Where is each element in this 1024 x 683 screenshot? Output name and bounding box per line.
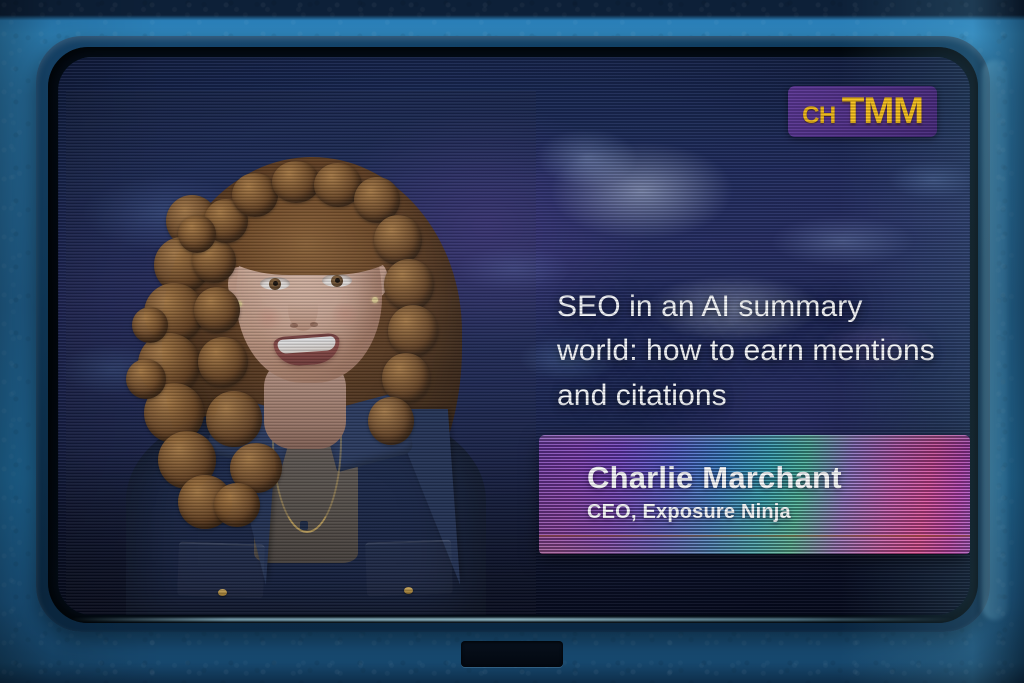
nostril-right: [310, 322, 318, 327]
teeth: [277, 336, 336, 354]
cheek-left: [252, 307, 286, 329]
tv-control-slot[interactable]: [461, 641, 563, 667]
hair-curl: [198, 337, 248, 387]
hair-curl: [374, 215, 422, 265]
eye-left: [260, 277, 290, 290]
hair-curl: [272, 161, 320, 203]
hair-curl: [206, 391, 262, 447]
hair-curl: [214, 483, 260, 527]
hair-curl: [194, 287, 240, 333]
nostril-left: [290, 323, 298, 328]
hair-curl: [368, 397, 414, 445]
crt-screen: CH TMM SEO in an AI summary world: how t…: [58, 57, 970, 615]
pupil-left: [273, 281, 278, 286]
channel-logo: CH TMM: [788, 86, 937, 137]
speaker-role: CEO, Exposure Ninja: [587, 501, 842, 524]
logo-prefix-text: CH: [802, 104, 836, 128]
logo-name-text: TMM: [842, 92, 923, 129]
hair-curl: [178, 215, 216, 253]
session-title: SEO in an AI summary world: how to earn …: [557, 285, 947, 418]
pupil-right: [335, 278, 340, 283]
jacket-button-right: [404, 587, 413, 594]
hair-curl: [382, 353, 430, 403]
tv-set: CH TMM SEO in an AI summary world: how t…: [0, 0, 1024, 683]
hair-curl: [384, 259, 434, 311]
speaker-name: Charlie Marchant: [587, 461, 842, 494]
cheek-right: [328, 303, 362, 325]
bezel-right-highlight: [982, 60, 1008, 620]
hair-curl: [132, 307, 168, 343]
speaker-lower-third-banner: Charlie Marchant CEO, Exposure Ninja: [539, 435, 970, 554]
presenter-portrait: [66, 91, 536, 615]
eye-right: [322, 274, 352, 287]
speaker-text-group: Charlie Marchant CEO, Exposure Ninja: [587, 461, 842, 524]
hair-curl: [388, 305, 438, 357]
hair-curl: [126, 359, 166, 399]
jacket-button-left: [218, 589, 227, 596]
earring-right: [372, 297, 378, 303]
bezel-bottom-highlight: [70, 618, 954, 621]
